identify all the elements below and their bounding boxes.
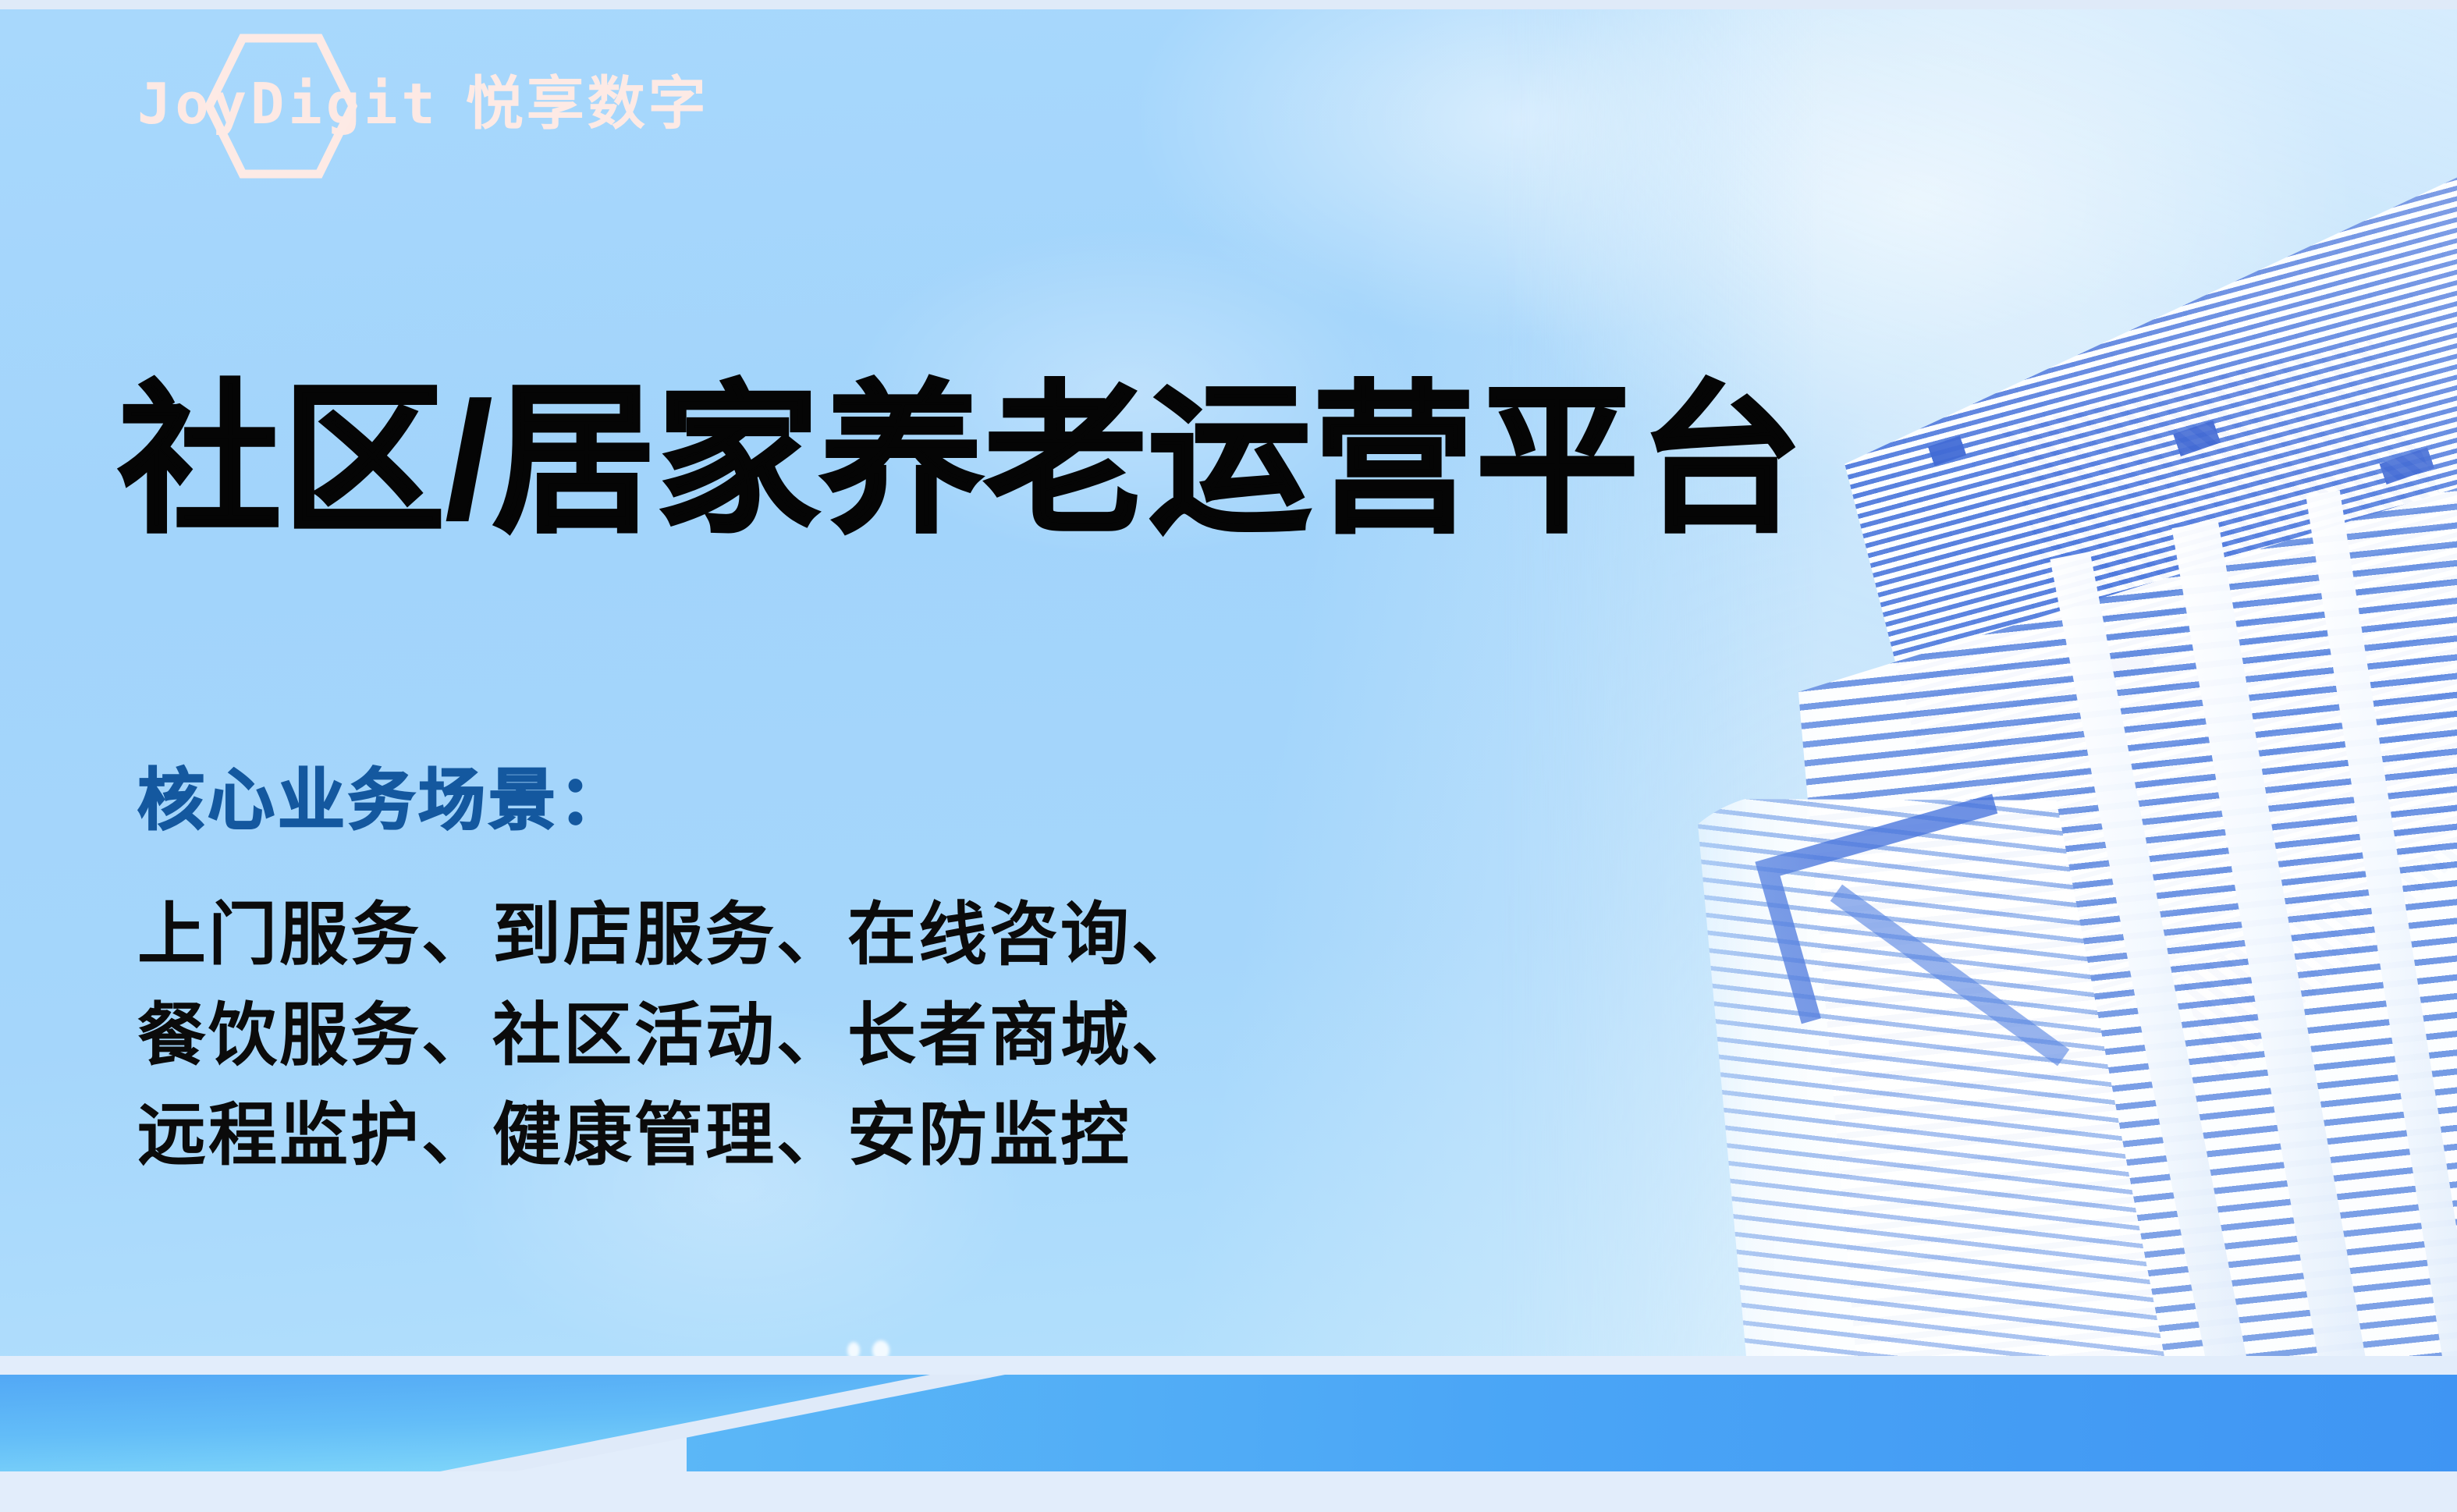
logo-mark: JoyDigit: [137, 76, 439, 132]
scenario-line: 远程监护、健康管理、安防监控: [137, 1085, 1202, 1185]
brand-chinese-name: 悦享数字: [466, 75, 709, 133]
scenario-line: 餐饮服务、社区活动、长者商城、: [137, 985, 1202, 1085]
bottom-band: [0, 1356, 2457, 1512]
brand-logo[interactable]: JoyDigit 悦享数字: [137, 75, 709, 133]
scenario-line: 上门服务、到店服务、在线咨询、: [137, 885, 1202, 985]
skyscraper-photo: [1497, 9, 2457, 1379]
slide-canvas: JoyDigit 悦享数字 社区/居家养老运营平台 核心业务场景： 上门服务、到…: [0, 0, 2457, 1512]
content-block: 核心业务场景： 上门服务、到店服务、在线咨询、 餐饮服务、社区活动、长者商城、 …: [137, 761, 1202, 1186]
page-title: 社区/居家养老运营平台: [119, 366, 1804, 557]
brand-latin-name: JoyDigit: [137, 71, 439, 137]
top-edge-strip: [0, 0, 2457, 9]
section-subheading: 核心业务场景：: [137, 761, 1202, 841]
